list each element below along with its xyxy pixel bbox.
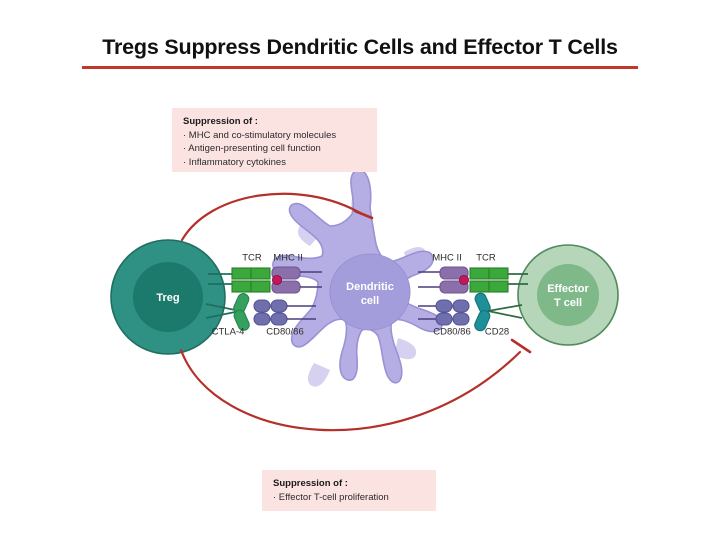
inhibition-bar-effector <box>512 340 530 352</box>
treg-cell-label: Treg <box>156 292 179 304</box>
callout-bottom-heading: Suppression of : <box>273 478 426 489</box>
tcr-left-label: TCR <box>242 253 262 264</box>
callout-top-item-0: · MHC and co-stimulatory molecules <box>183 129 367 142</box>
callout-suppression-effector: Suppression of : · Effector T-cell proli… <box>262 470 436 511</box>
peptide-dot-left <box>272 275 281 284</box>
effector-t-cell: Effector T cell <box>518 245 618 345</box>
ctla4-label: CTLA-4 <box>212 327 245 338</box>
callout-top-item-1: · Antigen-presenting cell function <box>183 142 367 155</box>
treg-cell: Treg <box>111 240 225 354</box>
callout-top-item-2: · Inflammatory cytokines <box>183 156 367 169</box>
mhc2-right-molecule <box>440 267 469 293</box>
callout-suppression-dendritic: Suppression of : · MHC and co-stimulator… <box>172 108 377 172</box>
tcr-left-molecule <box>232 268 270 292</box>
dendritic-cell-label-line1: Dendritic <box>346 281 394 293</box>
effector-t-cell-nucleus <box>537 264 599 326</box>
teff-cd28-stalk-lower <box>488 311 522 318</box>
callout-top-heading: Suppression of : <box>183 116 367 127</box>
effector-t-cell-label-line1: Effector <box>547 283 589 295</box>
teff-cd28-stalk-upper <box>488 305 522 311</box>
right-mhc2-tcr-complex: MHC II TCR <box>418 253 528 293</box>
cd8086-right-label: CD80/86 <box>433 327 471 338</box>
cd28-label: CD28 <box>485 327 509 338</box>
cd8086-left-molecule <box>254 300 287 325</box>
callout-bottom-item-0: · Effector T-cell proliferation <box>273 491 426 504</box>
mhc2-left-molecule <box>272 267 300 293</box>
slide-canvas: Tregs Suppress Dendritic Cells and Effec… <box>0 0 720 554</box>
mhc2-right-label: MHC II <box>432 253 462 264</box>
cd8086-left-label: CD80/86 <box>266 327 304 338</box>
peptide-dot-right <box>459 275 468 284</box>
mhc2-left-label: MHC II <box>273 253 303 264</box>
dendritic-cell-label-line2: cell <box>361 295 379 307</box>
tcr-right-molecule <box>470 268 508 292</box>
cd8086-right-molecule <box>436 300 469 325</box>
tcr-right-label: TCR <box>476 253 496 264</box>
effector-t-cell-label-line2: T cell <box>554 297 582 309</box>
